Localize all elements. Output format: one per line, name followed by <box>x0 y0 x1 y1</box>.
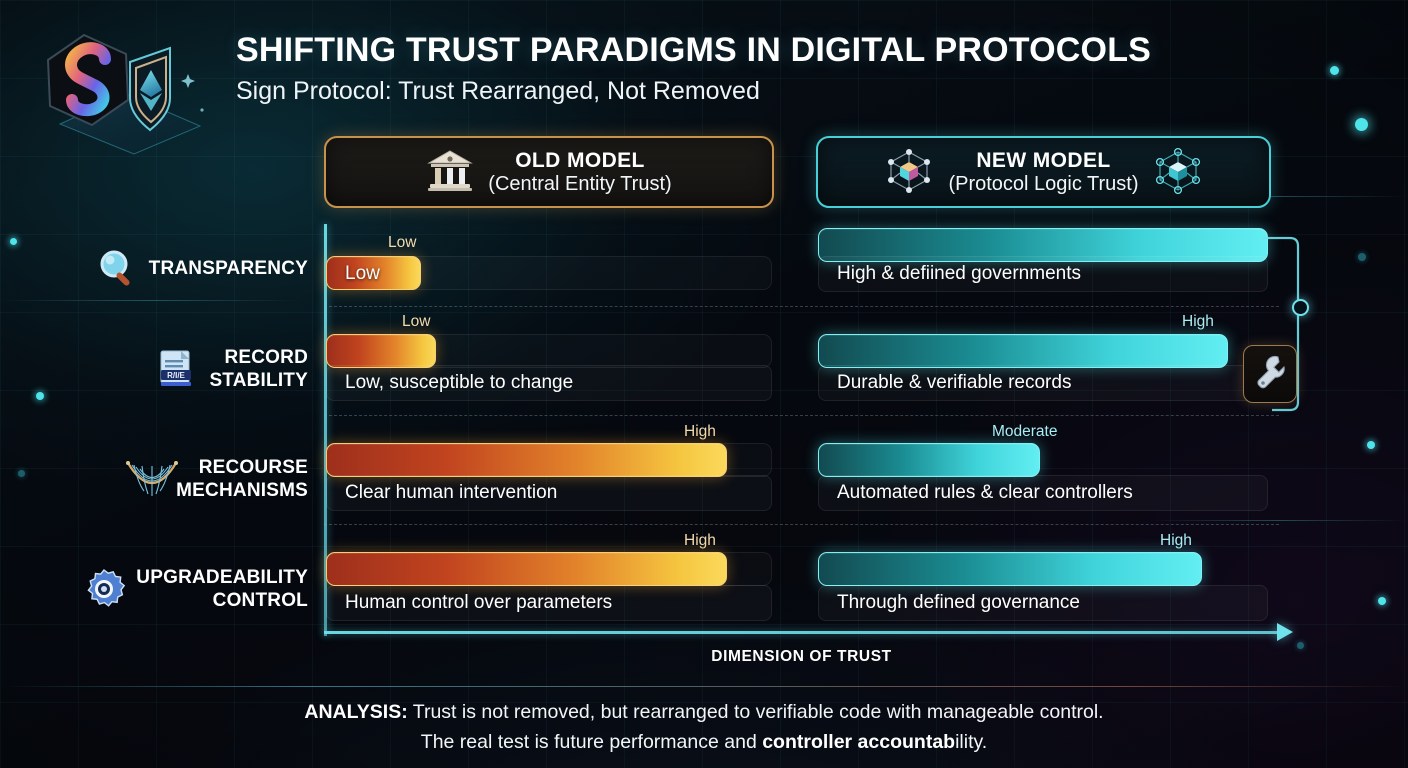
old-bar-recourse <box>326 443 727 477</box>
new-model-title: NEW MODEL <box>948 149 1138 173</box>
new-bar-tick-label: Moderate <box>992 423 1057 441</box>
old-desc-upgradeability: Human control over parameters <box>326 585 772 621</box>
analysis-line-2: The real test is future performance and … <box>0 727 1408 757</box>
new-bar-tick-label: High <box>1182 313 1214 331</box>
old-bar-tick-label: Low <box>402 313 430 331</box>
wrench-icon-box[interactable] <box>1243 345 1297 403</box>
old-bar-tick-label: High <box>684 423 716 441</box>
bank-icon <box>426 148 474 197</box>
analysis-text-2-bold: controller accountab <box>762 731 955 753</box>
row-label-text: UPGRADEABILITYCONTROL <box>136 566 308 612</box>
new-bar-recourse <box>818 443 1040 477</box>
network-cube-icon <box>884 146 934 199</box>
safety-net-icon <box>122 457 166 501</box>
old-bar-tick-label: Low <box>388 234 416 252</box>
connector-node <box>1292 299 1309 316</box>
svg-text:R/I/E: R/I/E <box>168 371 186 380</box>
magnifier-icon <box>95 246 139 290</box>
new-bar-upgradeability <box>818 552 1202 586</box>
old-model-title: OLD MODEL <box>488 149 671 173</box>
decor-dot <box>1355 118 1368 131</box>
new-desc-upgradeability: Through defined governance <box>818 585 1268 621</box>
old-model-header[interactable]: OLD MODEL (Central Entity Trust) <box>324 136 774 208</box>
old-bar-record-stability <box>326 334 436 368</box>
old-model-subtitle: (Central Entity Trust) <box>488 173 671 195</box>
new-desc-record-stability: Durable & verifiable records <box>818 365 1268 401</box>
new-model-header[interactable]: NEW MODEL (Protocol Logic Trust) <box>816 136 1271 208</box>
decor-dot <box>1367 441 1375 449</box>
analysis-prefix: ANALYSIS: <box>304 701 407 723</box>
network-cube-icon <box>1153 146 1203 199</box>
decor-dot <box>1330 66 1339 75</box>
x-axis-arrow-icon <box>1277 623 1293 641</box>
analysis-text-1: Trust is not removed, but rearranged to … <box>408 701 1104 723</box>
new-model-subtitle: (Protocol Logic Trust) <box>948 173 1138 195</box>
gear-icon <box>82 567 126 611</box>
old-desc-recourse: Clear human intervention <box>326 475 772 511</box>
new-desc-recourse: Automated rules & clear controllers <box>818 475 1268 511</box>
old-desc-record-stability: Low, susceptible to change <box>326 365 772 401</box>
page-subtitle: Sign Protocol: Trust Rearranged, Not Rem… <box>236 74 1246 108</box>
record-file-icon: R/I/E <box>155 347 199 391</box>
decor-dot <box>10 238 17 245</box>
x-axis-label: DIMENSION OF TRUST <box>324 648 1279 666</box>
row-divider <box>324 524 1279 525</box>
wrench-icon <box>1253 354 1287 395</box>
analysis-text-2a: The real test is future performance and <box>421 731 762 753</box>
row-label-record-stability: R/I/E RECORDSTABILITY <box>18 344 308 394</box>
old-bar-upgradeability <box>326 552 727 586</box>
row-label-text: RECORDSTABILITY <box>209 346 308 392</box>
row-divider <box>324 415 1279 416</box>
new-bar-record-stability <box>818 334 1228 368</box>
analysis-text-2b: ility. <box>955 731 987 753</box>
decor-dot <box>1297 642 1304 649</box>
title-block: SHIFTING TRUST PARADIGMS IN DIGITAL PROT… <box>236 28 1246 108</box>
old-bar-tick-label: High <box>684 532 716 550</box>
decor-line <box>1150 520 1408 521</box>
row-label-text: RECOURSEMECHANISMS <box>176 456 308 502</box>
analysis-footer: ANALYSIS: Trust is not removed, but rear… <box>0 697 1408 757</box>
new-bar-tick-label: High <box>1160 532 1192 550</box>
row-label-upgradeability-control: UPGRADEABILITYCONTROL <box>18 564 308 614</box>
row-label-recourse-mechanisms: RECOURSEMECHANISMS <box>18 454 308 504</box>
footer-divider <box>0 686 1408 687</box>
brand-logo <box>22 18 234 158</box>
new-desc-transparency: High & defiined governments <box>818 256 1268 292</box>
analysis-line-1: ANALYSIS: Trust is not removed, but rear… <box>0 697 1408 727</box>
page-title: SHIFTING TRUST PARADIGMS IN DIGITAL PROT… <box>236 28 1246 72</box>
old-bar-transparency: Low <box>326 256 421 290</box>
row-label-text: TRANSPARENCY <box>149 257 308 280</box>
old-bar-inline-label: Low <box>345 257 380 291</box>
x-axis-line <box>324 631 1279 634</box>
row-divider <box>324 306 1279 307</box>
decor-dot <box>1358 253 1366 261</box>
decor-line <box>0 300 300 301</box>
row-label-transparency: TRANSPARENCY <box>18 250 308 286</box>
decor-dot <box>1378 597 1386 605</box>
